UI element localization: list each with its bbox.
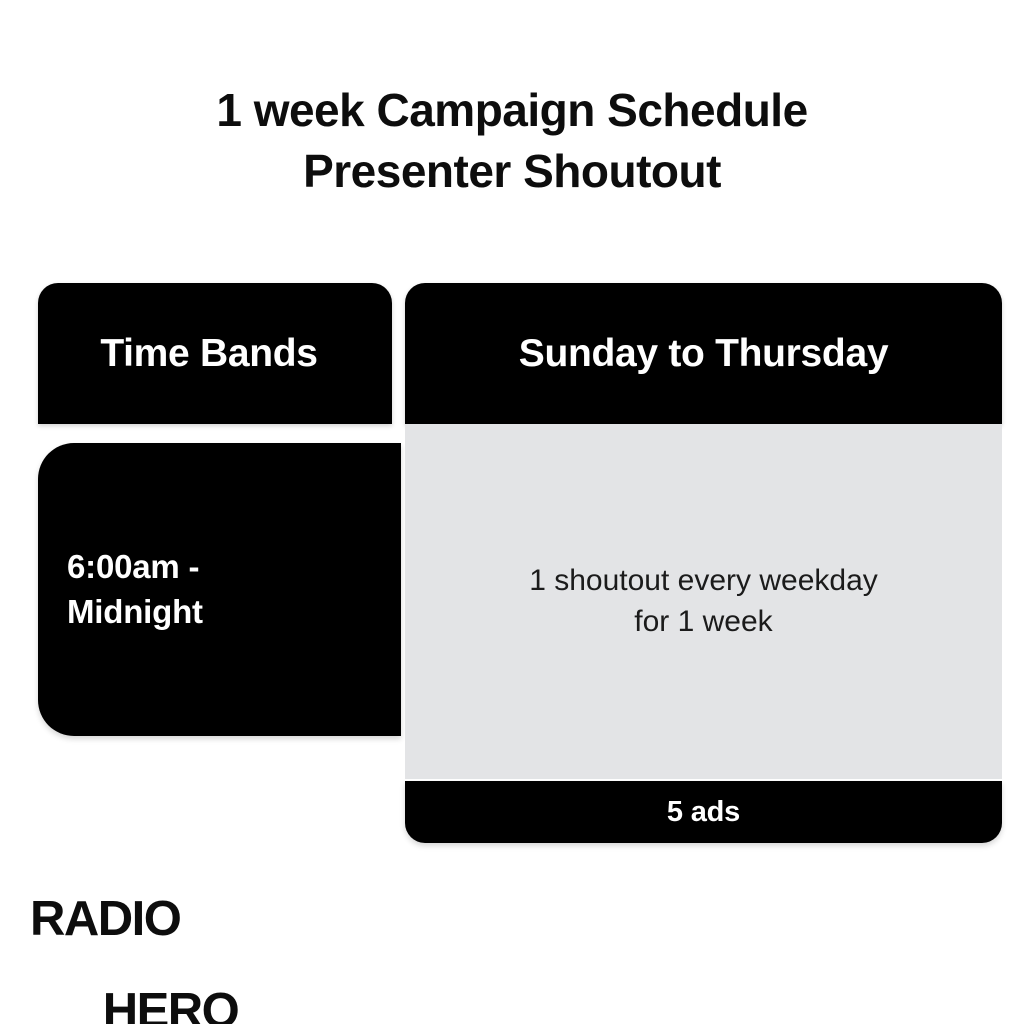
time-bands-header-label: Time Bands [100,332,317,376]
campaign-schedule-graphic: 1 week Campaign Schedule Presenter Shout… [0,0,1024,1024]
schedule-cell-text: 1 shoutout every weekday for 1 week [507,561,900,643]
time-band-row: 6:00am - Midnight [38,443,401,736]
time-band-label: 6:00am - Midnight [38,545,203,635]
total-ads-footer: 5 ads [405,781,1002,843]
page-title-line-2: Presenter Shoutout [0,141,1024,202]
logo-line-radio: RADIO [30,896,238,942]
schedule-table: Time Bands 6:00am - Midnight Sunday to T… [38,283,1002,843]
time-bands-header: Time Bands [38,283,392,424]
page-title-line-1: 1 week Campaign Schedule [0,80,1024,141]
schedule-cell: 1 shoutout every weekday for 1 week [405,424,1002,779]
page-title: 1 week Campaign Schedule Presenter Shout… [0,80,1024,201]
radiohero-logo: RADIO HERO .COM [30,896,238,1024]
days-header-label: Sunday to Thursday [519,332,888,376]
logo-line-hero: HERO .COM [30,942,238,1024]
logo-hero-text: HERO [103,984,239,1024]
days-header: Sunday to Thursday [405,283,1002,424]
total-ads-label: 5 ads [667,796,740,829]
